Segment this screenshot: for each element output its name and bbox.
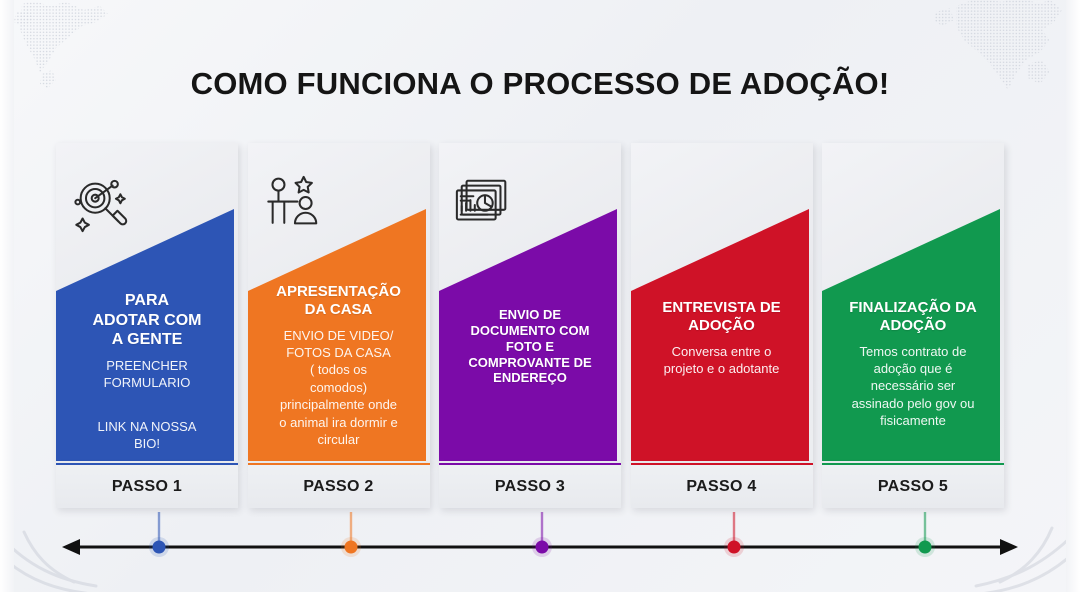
documents-chart-icon [453, 173, 515, 235]
step-card[interactable]: ENVIO DEDOCUMENTO COMFOTO ECOMPROVANTE D… [439, 143, 621, 506]
timeline-axis [0, 506, 1080, 576]
step-heading: PARAADOTAR COMA GENTE [64, 291, 230, 350]
step-card[interactable]: APRESENTAÇÃODA CASAENVIO DE VIDEO/FOTOS … [248, 143, 430, 506]
step-card[interactable]: FINALIZAÇÃO DAADOÇÃOTemos contrato deado… [822, 143, 1004, 506]
step-heading: FINALIZAÇÃO DAADOÇÃO [830, 299, 996, 336]
presenter-person-star-icon [262, 173, 324, 235]
step-text-block: ENTREVISTA DEADOÇÃOConversa entre oproje… [639, 299, 805, 377]
timeline [0, 506, 1080, 576]
step-subtext: PREENCHERFORMULARIOLINK NA NOSSABIO! [64, 357, 230, 453]
step-icon-wrapper [453, 173, 515, 235]
steps-row: PARAADOTAR COMA GENTEPREENCHERFORMULARIO… [56, 143, 1024, 506]
frame-edge-left [0, 0, 14, 592]
step-card[interactable]: ENTREVISTA DEADOÇÃOConversa entre oproje… [631, 143, 813, 506]
timeline-dot [536, 541, 549, 554]
step-card[interactable]: PARAADOTAR COMA GENTEPREENCHERFORMULARIO… [56, 143, 238, 506]
infographic-page: COMO FUNCIONA O PROCESSO DE ADOÇÃO! PARA… [0, 0, 1080, 592]
step-icon-wrapper [262, 173, 324, 235]
step-heading: ENVIO DEDOCUMENTO COMFOTO ECOMPROVANTE D… [447, 307, 613, 386]
step-card-body: PARAADOTAR COMA GENTEPREENCHERFORMULARIO… [56, 143, 238, 463]
timeline-dot [345, 541, 358, 554]
step-heading: ENTREVISTA DEADOÇÃO [639, 299, 805, 336]
step-label: PASSO 5 [822, 463, 1004, 508]
step-card-body: ENVIO DEDOCUMENTO COMFOTO ECOMPROVANTE D… [439, 143, 621, 463]
step-label: PASSO 1 [56, 463, 238, 508]
step-card-body: APRESENTAÇÃODA CASAENVIO DE VIDEO/FOTOS … [248, 143, 430, 463]
step-label: PASSO 3 [439, 463, 621, 508]
step-text-block: APRESENTAÇÃODA CASAENVIO DE VIDEO/FOTOS … [256, 283, 422, 448]
step-card-body: FINALIZAÇÃO DAADOÇÃOTemos contrato deado… [822, 143, 1004, 463]
timeline-dot [728, 541, 741, 554]
step-heading: APRESENTAÇÃODA CASA [256, 283, 422, 320]
step-subtext: Conversa entre oprojeto e o adotante [639, 343, 805, 378]
arrow-right-icon [1000, 539, 1018, 555]
timeline-dot [919, 541, 932, 554]
step-text-block: FINALIZAÇÃO DAADOÇÃOTemos contrato deado… [830, 299, 996, 430]
step-text-block: PARAADOTAR COMA GENTEPREENCHERFORMULARIO… [64, 291, 230, 453]
arrow-left-icon [62, 539, 80, 555]
timeline-dot [153, 541, 166, 554]
target-magnifier-icon [70, 173, 132, 235]
step-label: PASSO 2 [248, 463, 430, 508]
page-title: COMO FUNCIONA O PROCESSO DE ADOÇÃO! [0, 66, 1080, 102]
step-text-block: ENVIO DEDOCUMENTO COMFOTO ECOMPROVANTE D… [447, 307, 613, 393]
frame-edge-right [1066, 0, 1080, 592]
step-subtext: Temos contrato deadoção que énecessário … [830, 343, 996, 430]
step-icon-wrapper [70, 173, 132, 235]
step-card-body: ENTREVISTA DEADOÇÃOConversa entre oproje… [631, 143, 813, 463]
step-label: PASSO 4 [631, 463, 813, 508]
step-subtext: ENVIO DE VIDEO/FOTOS DA CASA( todos osco… [256, 327, 422, 449]
